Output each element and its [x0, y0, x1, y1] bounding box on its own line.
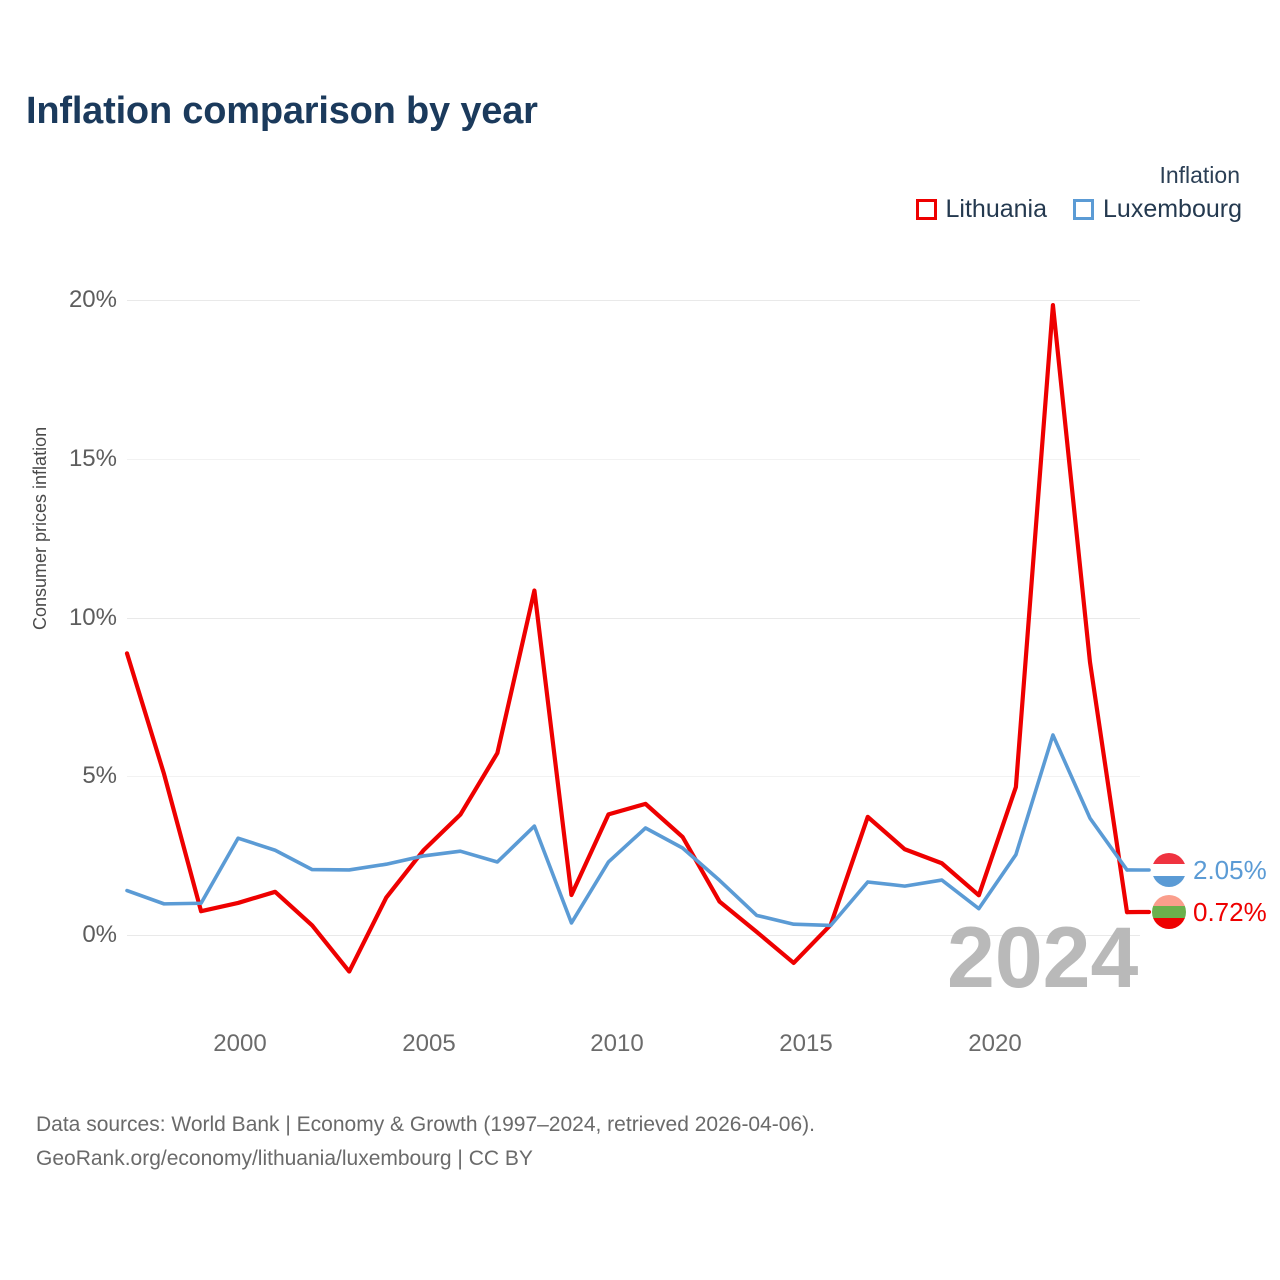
- plot-area: 20% 15% 10% 5% 0% 2000 2005 2010 2015 20…: [0, 0, 1280, 1280]
- footer-line-1: Data sources: World Bank | Economy & Gro…: [36, 1108, 815, 1142]
- end-value-lithuania: 0.72%: [1193, 897, 1267, 928]
- footer: Data sources: World Bank | Economy & Gro…: [36, 1108, 815, 1176]
- end-label-luxembourg: 2.05%: [1152, 853, 1267, 887]
- luxembourg-flag-icon: [1152, 853, 1186, 887]
- series-lines: [0, 0, 1280, 1280]
- footer-line-2: GeoRank.org/economy/lithuania/luxembourg…: [36, 1142, 815, 1176]
- chart-root: Inflation comparison by year Inflation L…: [0, 0, 1280, 1280]
- end-label-lithuania: 0.72%: [1152, 895, 1267, 929]
- line-lithuania: [127, 305, 1127, 971]
- line-luxembourg: [127, 735, 1127, 926]
- lithuania-flag-icon: [1152, 895, 1186, 929]
- end-value-luxembourg: 2.05%: [1193, 855, 1267, 886]
